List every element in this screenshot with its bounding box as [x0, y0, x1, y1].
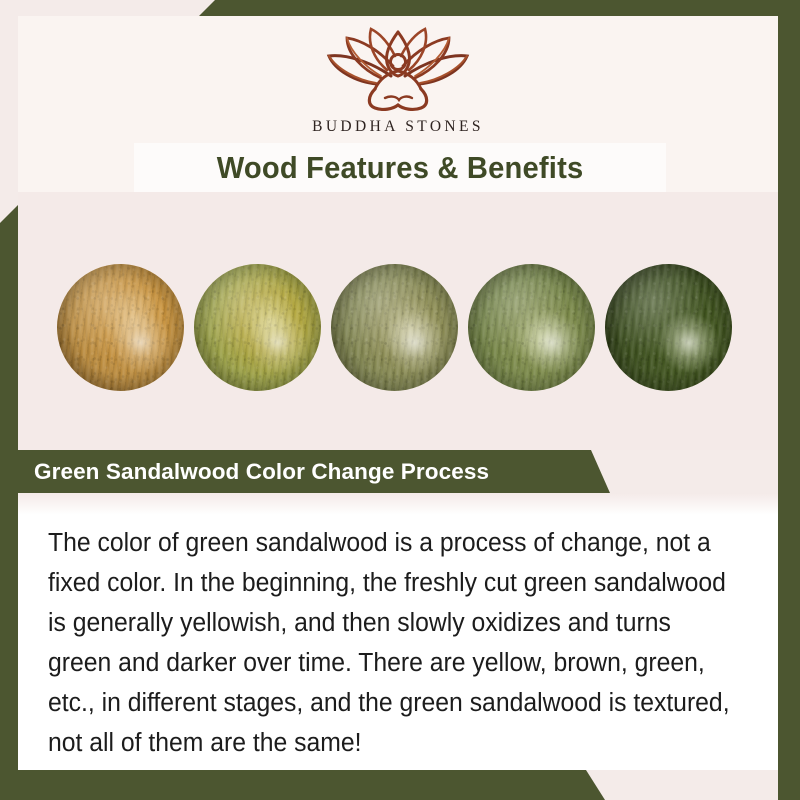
bead-stage-4 [468, 264, 595, 391]
frame-right-bar [778, 0, 800, 800]
bead-shading [468, 264, 595, 391]
bead-stage-5 [605, 264, 732, 391]
brand-logo: BUDDHA STONES [18, 26, 778, 136]
bead-stage-3 [331, 264, 458, 391]
section-title: Green Sandalwood Color Change Process [34, 459, 489, 485]
card-top-fade [18, 493, 778, 515]
frame-left-bar [0, 205, 18, 800]
bead-stage-2 [194, 264, 321, 391]
bead-shading [331, 264, 458, 391]
lotus-yoga-figure-icon [313, 26, 483, 112]
bead-stage-1 [57, 264, 184, 391]
brand-name: BUDDHA STONES [312, 118, 484, 136]
title-banner: Wood Features & Benefits [134, 143, 666, 193]
frame-top-bar [0, 0, 800, 16]
bead-shading [605, 264, 732, 391]
description-paragraph: The color of green sandalwood is a proce… [48, 523, 732, 763]
poster-canvas: BUDDHA STONES Wood Features & Benefits [0, 0, 800, 800]
bead-row [18, 192, 778, 450]
page-title: Wood Features & Benefits [217, 150, 584, 186]
bead-shading [194, 264, 321, 391]
frame-bottom-bar [0, 770, 800, 800]
bead-shading [57, 264, 184, 391]
bead-showcase-band [18, 192, 778, 450]
description-card: The color of green sandalwood is a proce… [18, 493, 778, 770]
section-banner: Green Sandalwood Color Change Process [18, 450, 610, 493]
